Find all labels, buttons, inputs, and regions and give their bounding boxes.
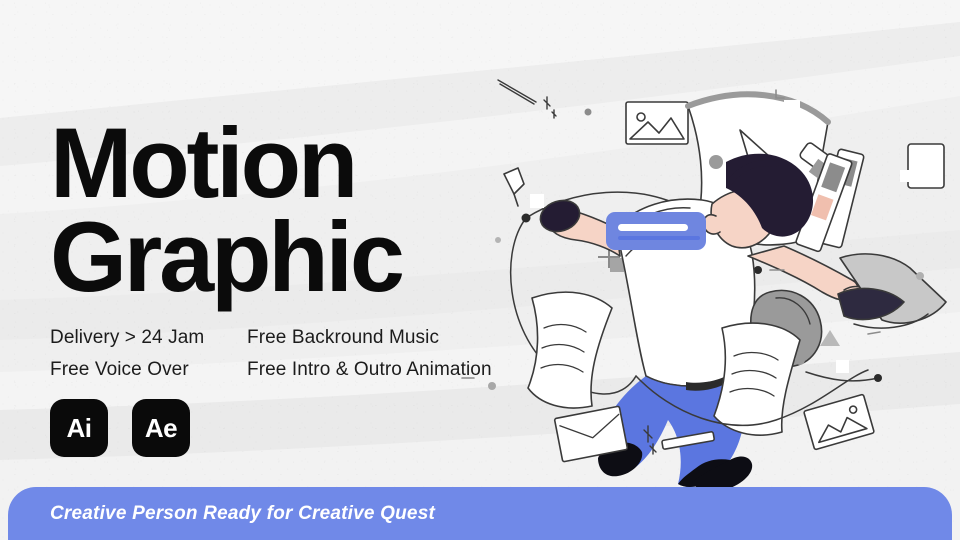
small-card-right [908,144,944,188]
laptop [838,254,946,328]
pen-tool-icon [504,168,524,206]
adobe-illustrator-badge[interactable]: Ai [50,399,108,457]
document-pages-center [714,323,800,435]
feature-delivery: Delivery > 24 Jam [50,327,204,349]
adobe-after-effects-label: Ae [145,413,177,444]
banner-tagline: Creative Person Ready for Creative Quest [50,503,435,525]
progress-bar [606,212,706,250]
page-title: Motion Graphic [50,116,402,304]
feature-voice-over: Free Voice Over [50,359,189,381]
software-badges: Ai Ae [50,399,190,457]
poster-canvas: Motion Graphic Delivery > 24 Jam Free Vo… [0,0,960,540]
image-placeholder-icon [626,102,688,144]
document-pages-left [528,292,612,408]
adobe-after-effects-badge[interactable]: Ae [132,399,190,457]
adobe-illustrator-label: Ai [67,413,92,444]
feature-background-music: Free Backround Music [247,327,439,349]
triangle-marker [820,330,840,346]
sparkle-marks [498,80,556,118]
bottom-banner: Creative Person Ready for Creative Quest [8,487,952,540]
hero-illustration [440,40,960,490]
